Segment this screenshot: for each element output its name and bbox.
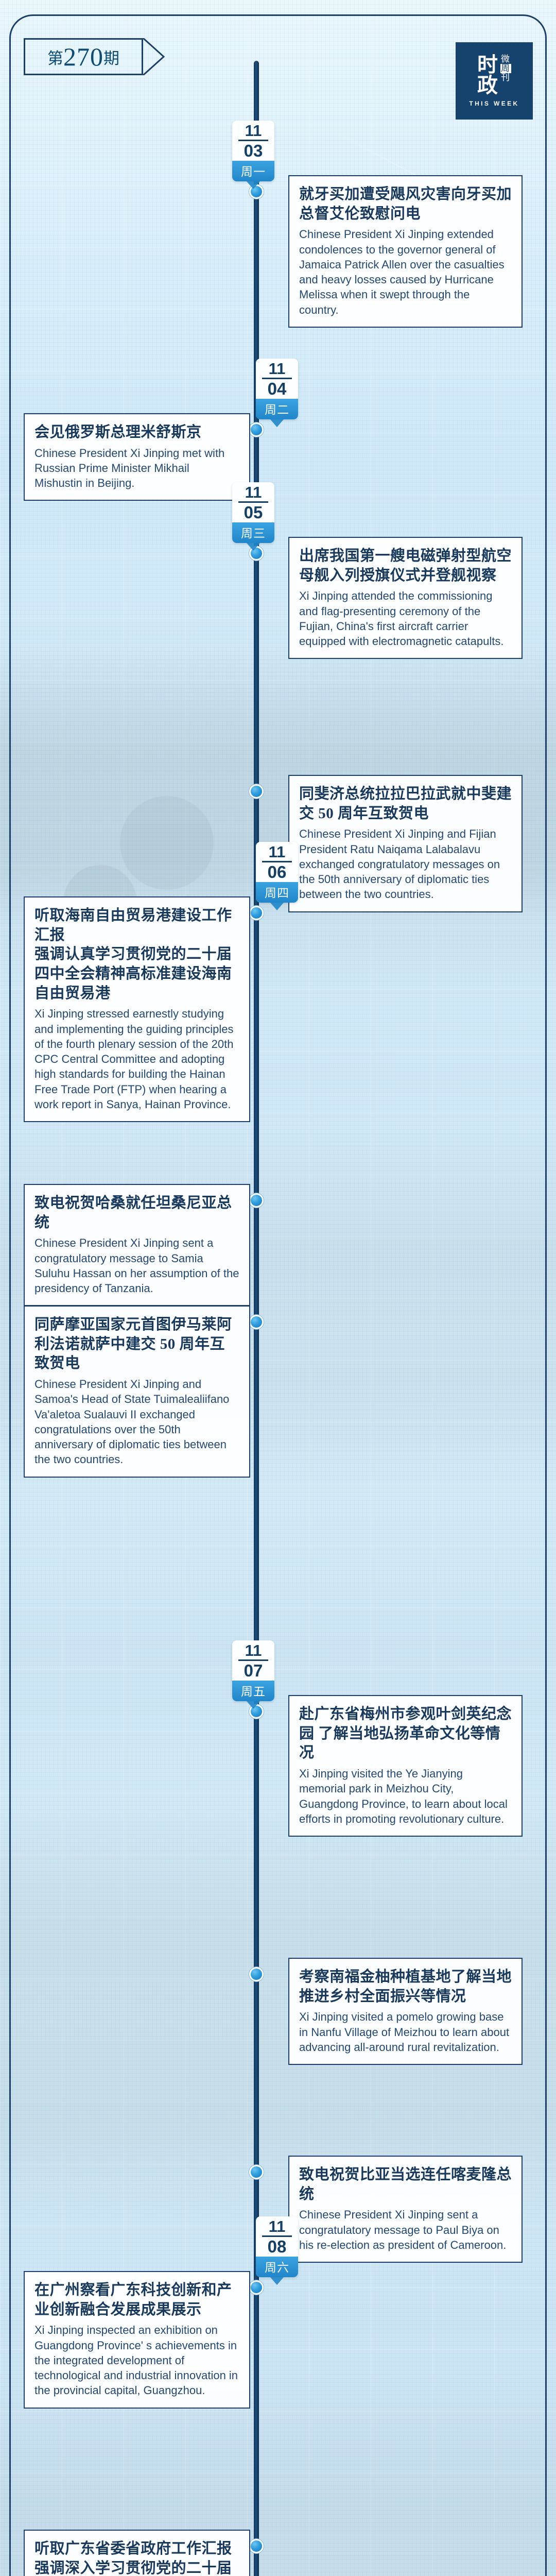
date-chip-top: 1105 <box>232 482 274 522</box>
card-headline-cn: 会见俄罗斯总理米舒斯京 <box>34 423 239 443</box>
date-chip-tail-icon <box>270 2277 284 2285</box>
date-day: 08 <box>256 2238 298 2255</box>
card-summary-en: Chinese President Xi Jinping met with Ru… <box>34 446 239 491</box>
timeline-card[interactable]: 致电祝贺哈桑就任坦桑尼亚总统Chinese President Xi Jinpi… <box>24 1184 250 1306</box>
date-chip: 1105周三 <box>232 482 274 543</box>
date-day: 03 <box>232 142 274 159</box>
publication-logo: 时 政 微 周 刊 THIS WEEK <box>456 42 533 120</box>
timeline-card[interactable]: 赴广东省梅州市参观叶剑英纪念园 了解当地弘扬革命文化等情况Xi Jinping … <box>288 1695 523 1837</box>
date-chip: 1104周二 <box>256 359 298 419</box>
date-chip-tail-icon <box>247 543 260 551</box>
card-summary-en: Chinese President Xi Jinping sent a cong… <box>34 1235 239 1296</box>
issue-number: 270 <box>63 42 103 72</box>
date-chip-top: 1108 <box>256 2216 298 2257</box>
logo-char-shi: 时 <box>477 55 499 75</box>
card-headline-cn: 致电祝贺哈桑就任坦桑尼亚总统 <box>34 1194 239 1232</box>
date-chip-tail-icon <box>270 903 284 910</box>
card-headline-cn: 致电祝贺比亚当选连任喀麦隆总统 <box>299 2165 512 2204</box>
date-month: 11 <box>232 1643 274 1658</box>
date-chip-top: 1103 <box>232 121 274 161</box>
date-chip-top: 1107 <box>232 1640 274 1681</box>
card-summary-en: Chinese President Xi Jinping and Samoa's… <box>34 1377 239 1467</box>
logo-char-wei: 微 <box>501 54 511 64</box>
logo-char-zhou: 周 <box>500 64 511 73</box>
date-day: 06 <box>256 863 298 880</box>
card-summary-en: Xi Jinping inspected an exhibition on Gu… <box>34 2323 239 2398</box>
date-weekday: 周五 <box>232 1681 274 1701</box>
card-headline-cn: 听取海南自由贸易港建设工作汇报 强调认真学习贯彻党的二十届四中全会精神高标准建设… <box>34 906 239 1003</box>
card-headline-cn: 在广州察看广东科技创新和产业创新融合发展成果展示 <box>34 2281 239 2319</box>
card-summary-en: Chinese President Xi Jinping and Fijian … <box>299 826 512 902</box>
card-summary-en: Chinese President Xi Jinping extended co… <box>299 227 512 317</box>
timeline-card[interactable]: 同斐济总统拉拉巴拉武就中斐建交 50 周年互致贺电Chinese Preside… <box>288 775 523 912</box>
timeline-card[interactable]: 会见俄罗斯总理米舒斯京Chinese President Xi Jinping … <box>24 413 250 501</box>
date-chip: 1106周四 <box>256 842 298 903</box>
date-month: 11 <box>256 361 298 376</box>
timeline-card[interactable]: 致电祝贺比亚当选连任喀麦隆总统Chinese President Xi Jinp… <box>288 2156 523 2263</box>
date-month: 11 <box>256 2219 298 2234</box>
date-month: 11 <box>232 485 274 500</box>
logo-char-kan: 刊 <box>501 73 511 82</box>
timeline-card[interactable]: 考察南福金柚种植基地了解当地推进乡村全面振兴等情况Xi Jinping visi… <box>288 1958 523 2065</box>
timeline-card[interactable]: 在广州察看广东科技创新和产业创新融合发展成果展示Xi Jinping inspe… <box>24 2271 250 2409</box>
timeline-card[interactable]: 听取海南自由贸易港建设工作汇报 强调认真学习贯彻党的二十届四中全会精神高标准建设… <box>24 896 250 1122</box>
date-weekday: 周六 <box>256 2257 298 2277</box>
date-chip-tail-icon <box>247 1701 260 1709</box>
card-headline-cn: 赴广东省梅州市参观叶剑英纪念园 了解当地弘扬革命文化等情况 <box>299 1705 512 1763</box>
card-headline-cn: 同萨摩亚国家元首图伊马莱阿利法诺就萨中建交 50 周年互致贺电 <box>34 1315 239 1374</box>
timeline-node-dot <box>249 1315 264 1329</box>
issue-badge: 第 270 期 <box>24 38 143 75</box>
card-headline-cn: 就牙买加遭受飓风灾害向牙买加总督艾伦致慰问电 <box>299 185 512 224</box>
date-weekday: 周四 <box>256 882 298 903</box>
timeline-node-dot <box>249 2280 264 2295</box>
card-headline-cn: 考察南福金柚种植基地了解当地推进乡村全面振兴等情况 <box>299 1968 512 2006</box>
date-weekday: 周一 <box>232 161 274 181</box>
timeline-node-dot <box>249 906 264 920</box>
timeline-node-dot <box>249 1967 264 1981</box>
card-summary-en: Chinese President Xi Jinping sent a cong… <box>299 2207 512 2252</box>
logo-char-zheng: 政 <box>477 75 499 95</box>
card-summary-en: Xi Jinping attended the commissioning an… <box>299 588 512 649</box>
date-chip-tail-icon <box>270 419 284 427</box>
timeline-node-dot <box>249 1193 264 1208</box>
date-day: 05 <box>232 504 274 521</box>
logo-english-label: THIS WEEK <box>469 100 519 107</box>
timeline-card[interactable]: 就牙买加遭受飓风灾害向牙买加总督艾伦致慰问电Chinese President … <box>288 175 523 328</box>
date-chip: 1108周六 <box>256 2216 298 2277</box>
issue-suffix: 期 <box>103 45 119 69</box>
date-day: 07 <box>232 1662 274 1679</box>
card-headline-cn: 出席我国第一艘电磁弹射型航空母舰入列授旗仪式并登舰视察 <box>299 547 512 585</box>
card-headline-cn: 听取广东省委省政府工作汇报 强调深入学习贯彻党的二十届四中全会精神全面深化改革开… <box>34 2539 239 2576</box>
timeline-node-dot <box>249 422 264 437</box>
timeline-node-dot <box>249 2539 264 2553</box>
card-summary-en: Xi Jinping stressed earnestly studying a… <box>34 1006 239 1112</box>
timeline-card[interactable]: 听取广东省委省政府工作汇报 强调深入学习贯彻党的二十届四中全会精神全面深化改革开… <box>24 2530 250 2576</box>
card-summary-en: Xi Jinping visited a pomelo growing base… <box>299 2009 512 2055</box>
date-weekday: 周三 <box>232 522 274 543</box>
date-chip: 1103周一 <box>232 121 274 181</box>
date-month: 11 <box>256 844 298 859</box>
card-headline-cn: 同斐济总统拉拉巴拉武就中斐建交 50 周年互致贺电 <box>299 785 512 823</box>
timeline-card[interactable]: 出席我国第一艘电磁弹射型航空母舰入列授旗仪式并登舰视察Xi Jinping at… <box>288 537 523 659</box>
date-chip: 1107周五 <box>232 1640 274 1701</box>
card-summary-en: Xi Jinping visited the Ye Jianying memor… <box>299 1766 512 1826</box>
date-chip-tail-icon <box>247 181 260 189</box>
date-chip-top: 1104 <box>256 359 298 399</box>
date-day: 04 <box>256 380 298 397</box>
date-month: 11 <box>232 123 274 138</box>
timeline-node-dot <box>249 784 264 799</box>
timeline-node-dot <box>249 2165 264 2179</box>
date-chip-top: 1106 <box>256 842 298 882</box>
date-weekday: 周二 <box>256 399 298 419</box>
issue-prefix: 第 <box>47 45 63 69</box>
issue-badge-arrow-icon <box>143 38 166 75</box>
timeline-card[interactable]: 同萨摩亚国家元首图伊马莱阿利法诺就萨中建交 50 周年互致贺电Chinese P… <box>24 1306 250 1478</box>
